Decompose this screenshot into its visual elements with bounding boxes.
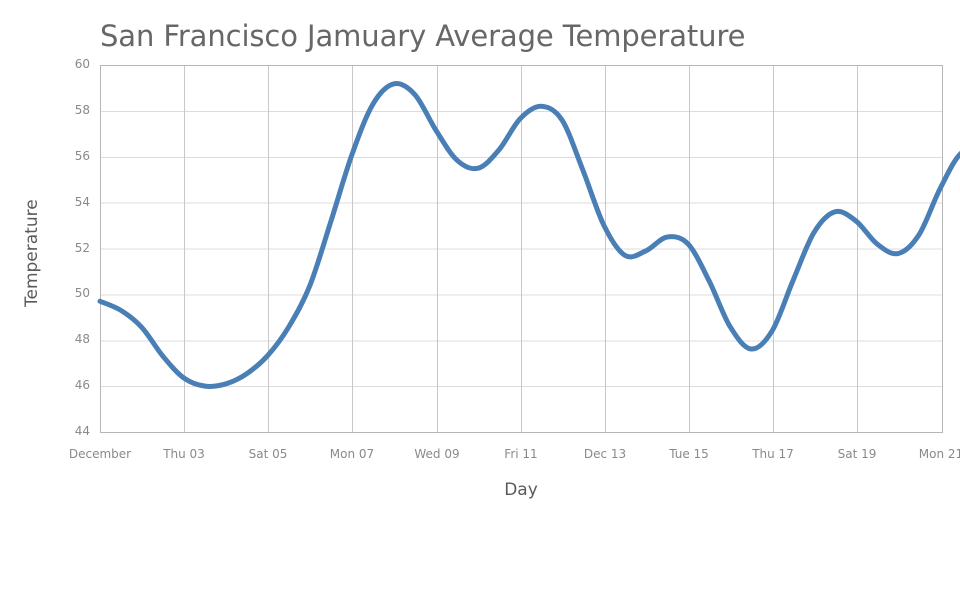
x-axis-title: Day: [421, 480, 621, 500]
x-tick-label: Fri 11: [504, 447, 537, 461]
x-tick-label: Mon 21: [919, 447, 960, 461]
y-tick-label: 56: [30, 149, 90, 163]
x-tick-label: Dec 13: [584, 447, 626, 461]
y-axis-title: Temperature: [22, 199, 42, 307]
y-tick-label: 58: [30, 103, 90, 117]
x-tick-label: Wed 09: [414, 447, 459, 461]
chart-container: San Francisco Jamuary Average Temperatur…: [0, 0, 960, 600]
y-tick-label: 44: [30, 424, 90, 438]
x-tick-label: Mon 07: [330, 447, 374, 461]
y-tick-label: 48: [30, 332, 90, 346]
x-tick-label: Sat 05: [249, 447, 288, 461]
y-tick-label: 60: [30, 57, 90, 71]
x-tick-label: Thu 17: [752, 447, 794, 461]
chart-plot-svg: [0, 0, 960, 600]
y-tick-label: 46: [30, 378, 90, 392]
x-tick-label: December: [69, 447, 131, 461]
x-tick-label: Sat 19: [838, 447, 877, 461]
x-tick-label: Thu 03: [163, 447, 205, 461]
x-tick-label: Tue 15: [669, 447, 709, 461]
